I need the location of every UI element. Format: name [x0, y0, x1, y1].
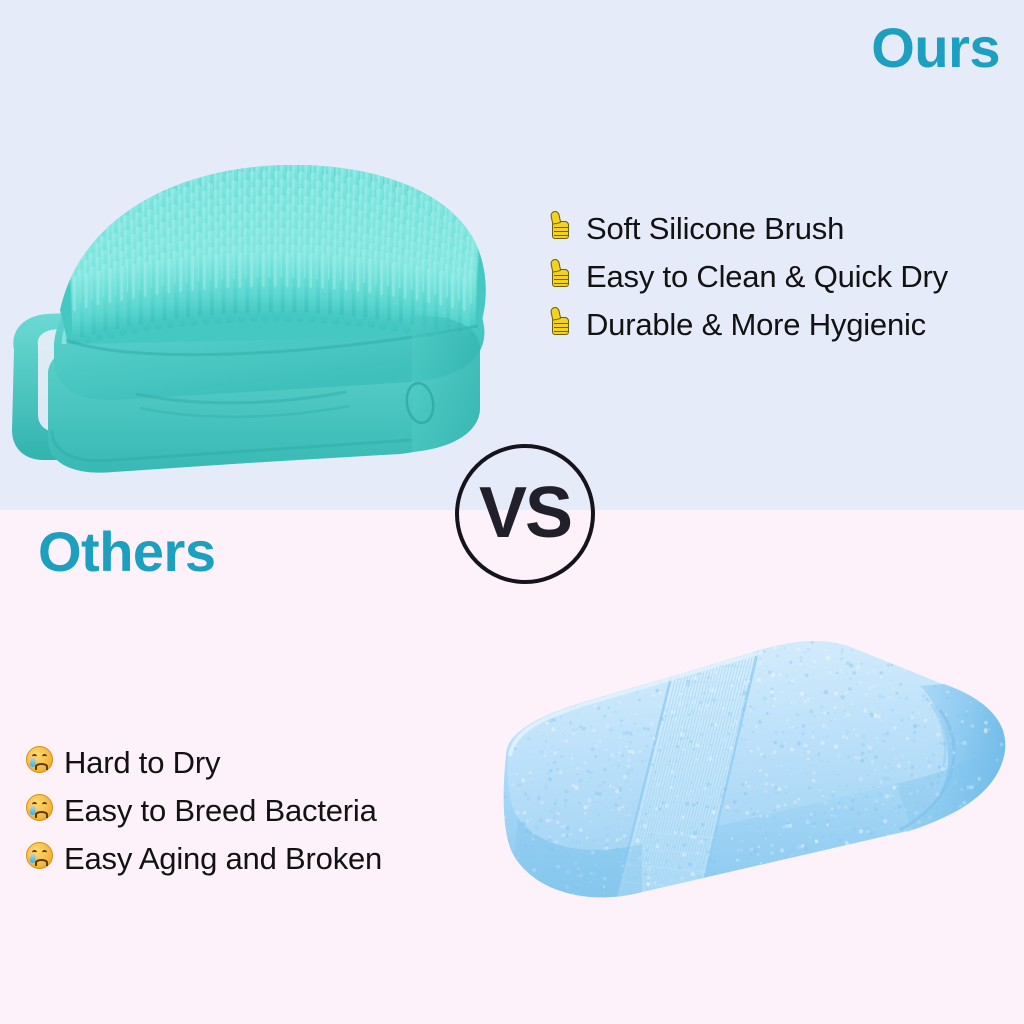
silicone-brush-image	[8, 78, 528, 478]
crying-face-icon	[26, 841, 64, 875]
list-item: Hard to Dry	[26, 738, 486, 786]
feature-label: Durable & More Hygienic	[586, 309, 926, 340]
page-title-others: Others	[38, 524, 216, 580]
thumbs-up-icon	[548, 259, 586, 293]
others-feature-list: Hard to Dry Easy to Breed Bacteria E	[26, 738, 486, 882]
feature-label: Easy Aging and Broken	[64, 843, 382, 874]
infographic-canvas: Ours Others Soft Silicone Brush Easy to …	[0, 0, 1024, 1024]
list-item: Easy to Clean & Quick Dry	[548, 252, 1018, 300]
versus-badge: VS	[455, 444, 595, 584]
towel-image	[492, 606, 1022, 916]
crying-face-icon	[26, 745, 64, 779]
feature-label: Easy to Breed Bacteria	[64, 795, 377, 826]
page-title-ours: Ours	[871, 20, 1000, 76]
thumbs-up-icon	[548, 211, 586, 245]
feature-label: Hard to Dry	[64, 747, 220, 778]
ours-feature-list: Soft Silicone Brush Easy to Clean & Quic…	[548, 204, 1018, 348]
versus-label: VS	[479, 477, 571, 549]
feature-label: Easy to Clean & Quick Dry	[586, 261, 948, 292]
thumbs-up-icon	[548, 307, 586, 341]
list-item: Soft Silicone Brush	[548, 204, 1018, 252]
crying-face-icon	[26, 793, 64, 827]
list-item: Easy Aging and Broken	[26, 834, 486, 882]
feature-label: Soft Silicone Brush	[586, 213, 844, 244]
list-item: Easy to Breed Bacteria	[26, 786, 486, 834]
list-item: Durable & More Hygienic	[548, 300, 1018, 348]
